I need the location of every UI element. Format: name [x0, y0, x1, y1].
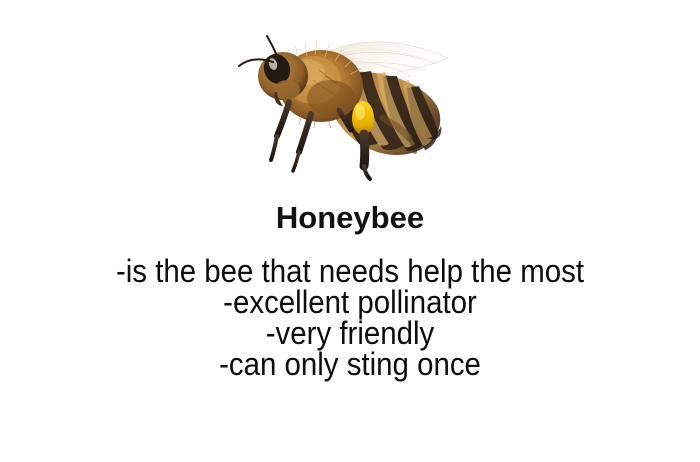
honeybee-image	[215, 14, 465, 186]
text-block: Honeybee -is the bee that needs help the…	[0, 198, 700, 380]
list-item: -excellent pollinator	[28, 287, 672, 318]
slide-canvas: Honeybee -is the bee that needs help the…	[0, 0, 700, 462]
list-item: -is the bee that needs help the most	[28, 256, 672, 287]
fact-list: -is the bee that needs help the most -ex…	[0, 256, 700, 380]
honeybee-illustration	[215, 14, 465, 186]
page-title: Honeybee	[0, 198, 700, 238]
list-item: -very friendly	[28, 318, 672, 349]
list-item: -can only sting once	[28, 349, 672, 380]
